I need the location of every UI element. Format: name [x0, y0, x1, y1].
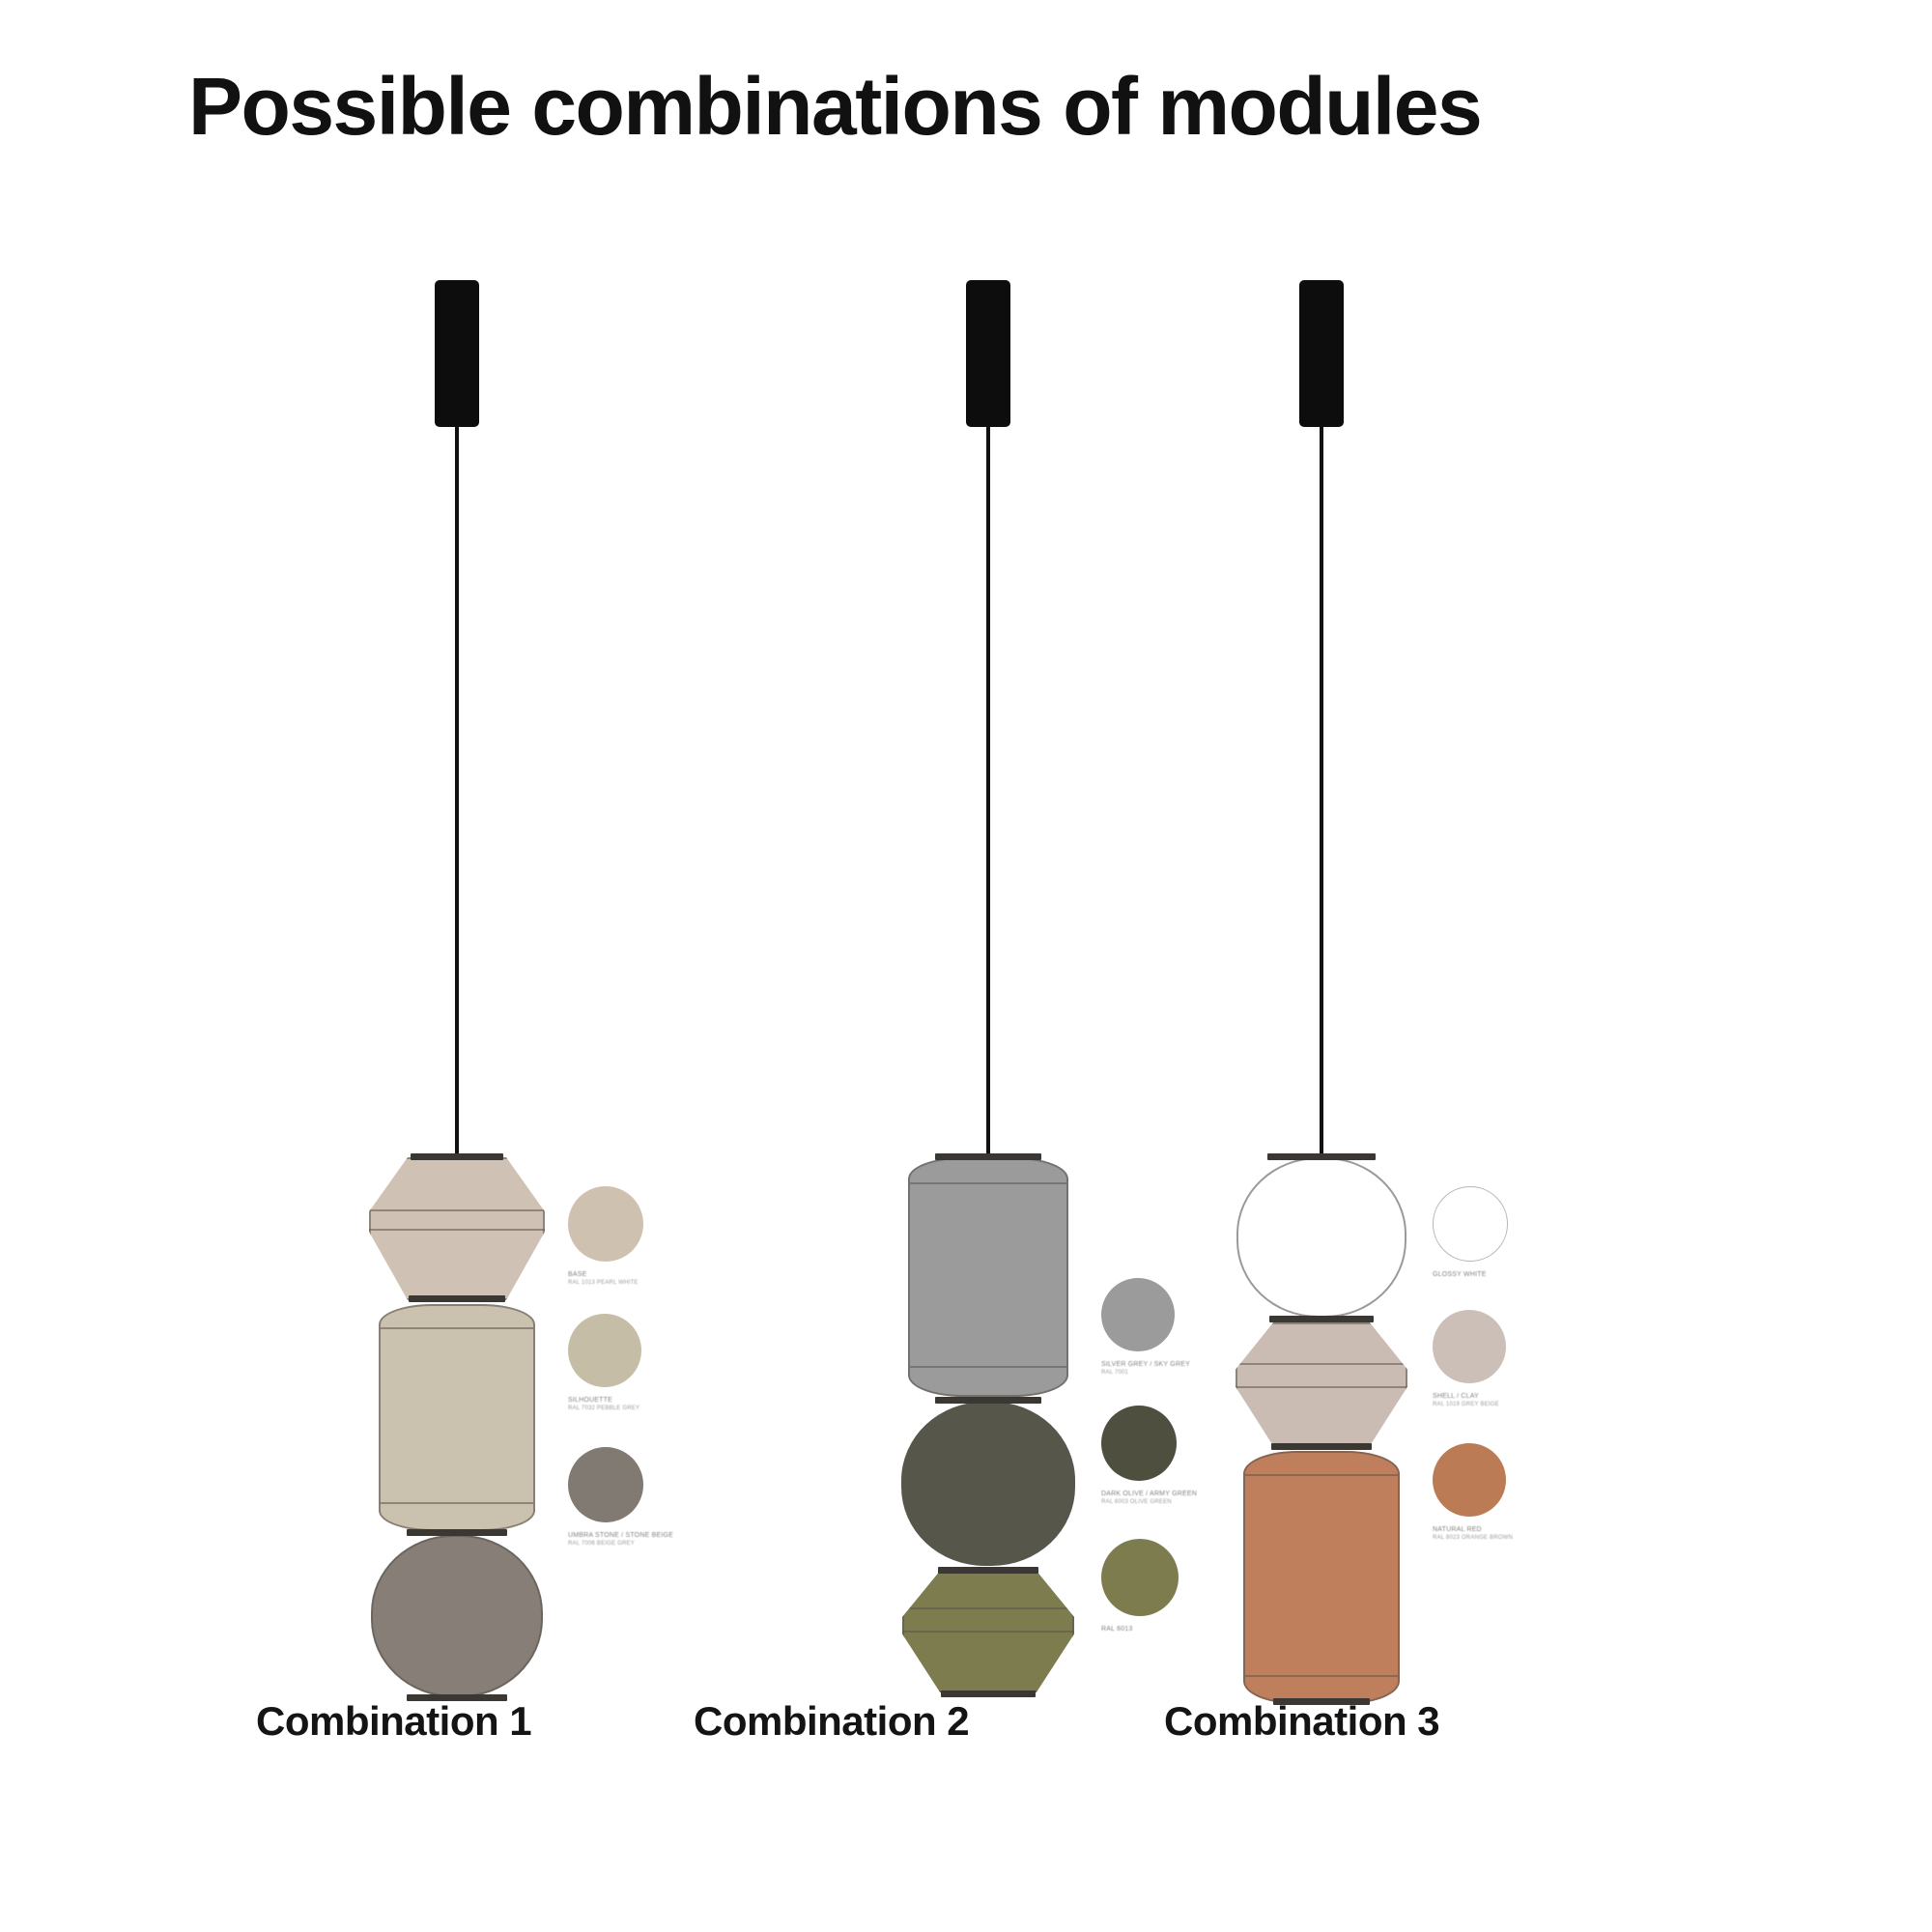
- suspension-cord-3: [1320, 427, 1323, 1161]
- module-connector: [1269, 1316, 1374, 1322]
- ceiling-canopy-1: [435, 280, 479, 427]
- swatch-label: BASE RAL 1013 PEARL WHITE: [568, 1270, 684, 1287]
- module-connector: [407, 1529, 507, 1536]
- module-sphere-3: [1236, 1157, 1406, 1318]
- module-connector: [409, 1295, 505, 1302]
- swatch-label: NATURAL RED RAL 8023 ORANGE BROWN: [1433, 1525, 1548, 1542]
- poster-root: { "title": "Possible combinations of mod…: [0, 0, 1932, 1932]
- module-connector: [935, 1397, 1041, 1404]
- swatch-item[interactable]: SHELL / CLAY RAL 1019 GREY BEIGE: [1433, 1310, 1548, 1434]
- module-cylinder-1: [379, 1304, 535, 1531]
- module-connector: [935, 1153, 1041, 1160]
- module-connector: [941, 1690, 1036, 1697]
- combination-column-1: BASE RAL 1013 PEARL WHITE SILHOUETTE RAL…: [164, 0, 705, 1835]
- ceiling-canopy-3: [1299, 280, 1344, 427]
- module-cylinder-3: [1243, 1451, 1400, 1704]
- module-diamond-3: [1236, 1322, 1407, 1446]
- module-connector: [1273, 1698, 1370, 1705]
- suspension-cord-2: [986, 427, 990, 1161]
- swatch-list-3: GLOSSY WHITE SHELL / CLAY RAL 1019 GREY …: [1433, 1186, 1548, 1569]
- module-sphere-1: [371, 1535, 543, 1697]
- swatch-label: SILHOUETTE RAL 7032 PEBBLE GREY: [568, 1396, 684, 1412]
- combination-column-3: GLOSSY WHITE SHELL / CLAY RAL 1019 GREY …: [1029, 0, 1570, 1835]
- swatch-color: [1433, 1186, 1508, 1262]
- swatch-color: [568, 1447, 643, 1522]
- swatch-item[interactable]: SILHOUETTE RAL 7032 PEBBLE GREY: [568, 1314, 684, 1437]
- swatch-label: GLOSSY WHITE: [1433, 1270, 1548, 1279]
- swatch-label: UMBRA STONE / STONE BEIGE RAL 7006 BEIGE…: [568, 1531, 684, 1548]
- module-connector: [938, 1567, 1038, 1574]
- caption-combination-1: Combination 1: [256, 1698, 531, 1745]
- swatch-label: SHELL / CLAY RAL 1019 GREY BEIGE: [1433, 1392, 1548, 1408]
- swatch-color: [1433, 1443, 1506, 1517]
- caption-combination-2: Combination 2: [694, 1698, 969, 1745]
- swatch-list-1: BASE RAL 1013 PEARL WHITE SILHOUETTE RAL…: [568, 1186, 684, 1573]
- swatch-color: [568, 1186, 643, 1262]
- module-connector: [407, 1694, 507, 1701]
- swatch-item[interactable]: BASE RAL 1013 PEARL WHITE: [568, 1186, 684, 1304]
- swatch-item[interactable]: NATURAL RED RAL 8023 ORANGE BROWN: [1433, 1443, 1548, 1559]
- ceiling-canopy-2: [966, 280, 1010, 427]
- swatch-color: [568, 1314, 641, 1387]
- swatch-item[interactable]: UMBRA STONE / STONE BEIGE RAL 7006 BEIGE…: [568, 1447, 684, 1563]
- module-diamond-1: [369, 1157, 545, 1300]
- swatch-item[interactable]: GLOSSY WHITE: [1433, 1186, 1548, 1300]
- suspension-cord-1: [455, 427, 459, 1161]
- caption-combination-3: Combination 3: [1164, 1698, 1439, 1745]
- module-connector: [1267, 1153, 1376, 1160]
- swatch-color: [1433, 1310, 1506, 1383]
- module-connector: [411, 1153, 503, 1160]
- module-connector: [1271, 1443, 1372, 1450]
